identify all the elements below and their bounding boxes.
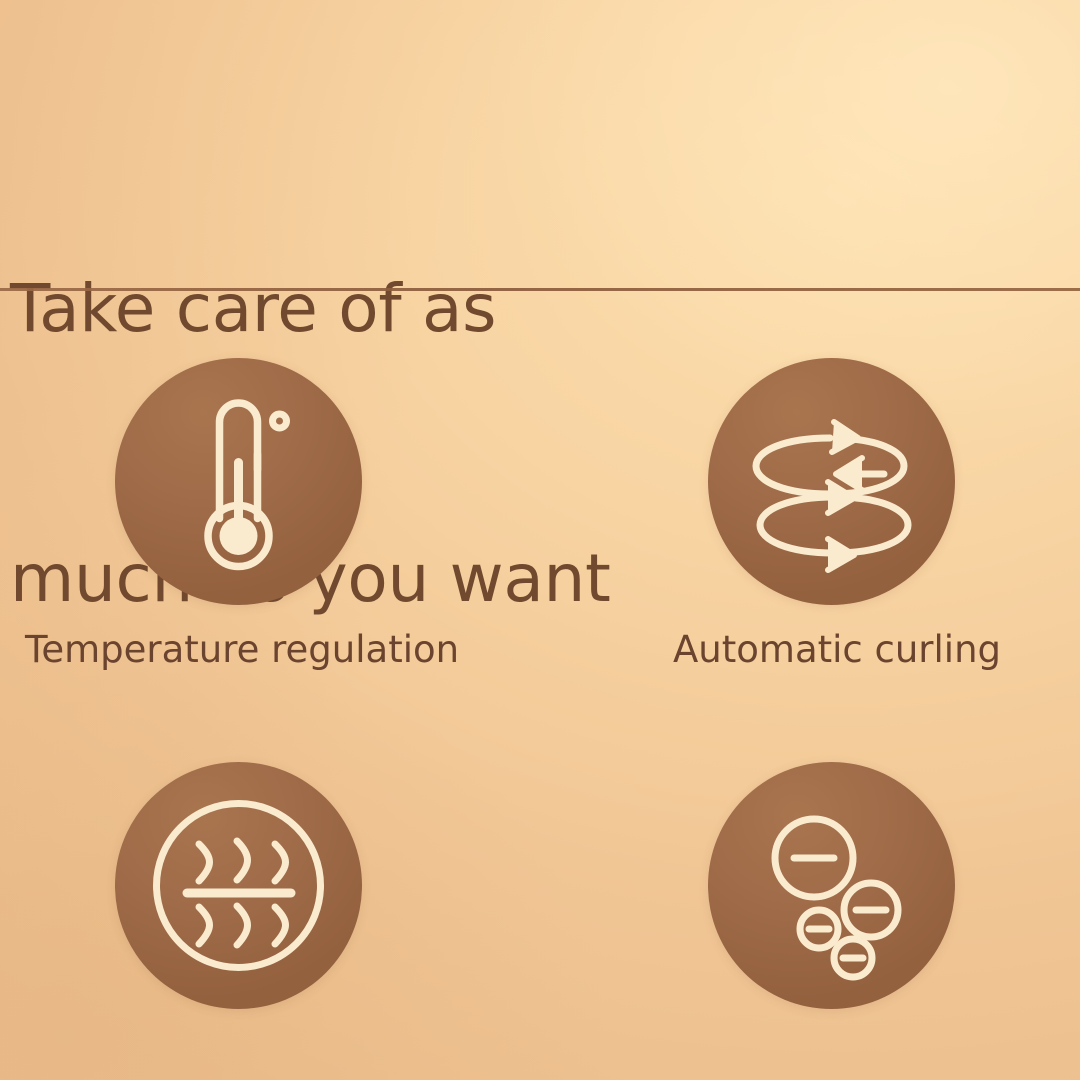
feature-icon-badge — [708, 358, 955, 605]
thermometer-icon — [115, 358, 362, 605]
feature-row-2 — [0, 770, 1080, 1080]
feature-label: Automatic curling — [673, 628, 1001, 672]
feature-icon-badge — [708, 762, 955, 1009]
header-divider — [0, 288, 1080, 291]
feature-item-heat-airflow[interactable] — [0, 770, 540, 1080]
heat-waves-icon — [115, 762, 362, 1009]
rotation-arrows-icon — [708, 358, 955, 605]
feature-row-1: Temperature regulation — [0, 340, 1080, 770]
degree-symbol-icon — [273, 414, 287, 428]
feature-grid: Temperature regulation — [0, 340, 1080, 1080]
feature-label: Temperature regulation — [25, 628, 459, 672]
feature-icon-badge — [115, 358, 362, 605]
negative-ions-icon — [708, 762, 955, 1009]
feature-item-automatic-curling[interactable]: Automatic curling — [540, 340, 1080, 770]
feature-item-temperature-regulation[interactable]: Temperature regulation — [0, 340, 540, 770]
feature-item-negative-ions[interactable] — [540, 770, 1080, 1080]
promo-page: Take care of as much as you want — [0, 0, 1080, 1080]
feature-icon-badge — [115, 762, 362, 1009]
